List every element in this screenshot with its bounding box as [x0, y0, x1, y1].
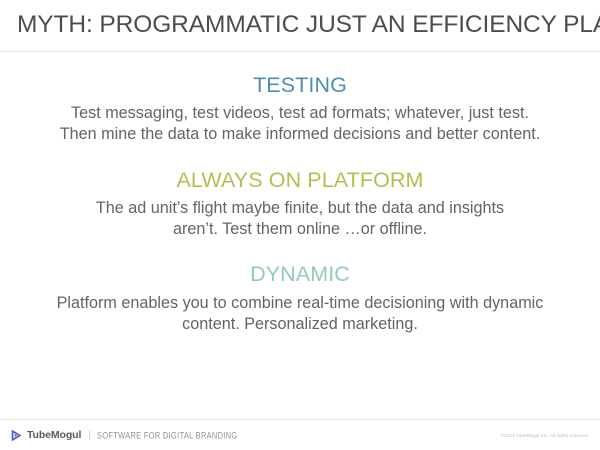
brand-divider: | [88, 429, 91, 441]
copyright-notice: ©2014 TubeMogul Inc. All rights reserved [501, 433, 588, 438]
section-heading-testing: TESTING [30, 72, 570, 98]
section-body-testing: Test messaging, test videos, test ad for… [54, 103, 546, 145]
tubemogul-play-mark-icon [10, 429, 23, 442]
section-dynamic: DYNAMIC Platform enables you to combine … [30, 261, 570, 335]
section-heading-dynamic: DYNAMIC [30, 261, 570, 287]
section-body-always-on-platform: The ad unit’s flight maybe finite, but t… [73, 198, 528, 240]
brand-lockup: TubeMogul | SOFTWARE FOR DIGITAL BRANDIN… [10, 429, 238, 442]
section-always-on-platform: ALWAYS ON PLATFORM The ad unit’s flight … [30, 167, 570, 241]
slide-footer: TubeMogul | SOFTWARE FOR DIGITAL BRANDIN… [0, 420, 600, 450]
section-body-dynamic: Platform enables you to combine real-tim… [54, 293, 546, 335]
slide: MYTH: PROGRAMMATIC JUST AN EFFICIENCY PL… [0, 0, 600, 450]
section-testing: TESTING Test messaging, test videos, tes… [30, 72, 570, 146]
brand-name: TubeMogul [27, 429, 81, 441]
page-title: MYTH: PROGRAMMATIC JUST AN EFFICIENCY PL… [17, 13, 600, 38]
brand-tagline: SOFTWARE FOR DIGITAL BRANDING [97, 430, 237, 441]
slide-header: MYTH: PROGRAMMATIC JUST AN EFFICIENCY PL… [0, 0, 600, 51]
section-heading-always-on-platform: ALWAYS ON PLATFORM [30, 167, 570, 193]
slide-content: TESTING Test messaging, test videos, tes… [0, 52, 600, 419]
